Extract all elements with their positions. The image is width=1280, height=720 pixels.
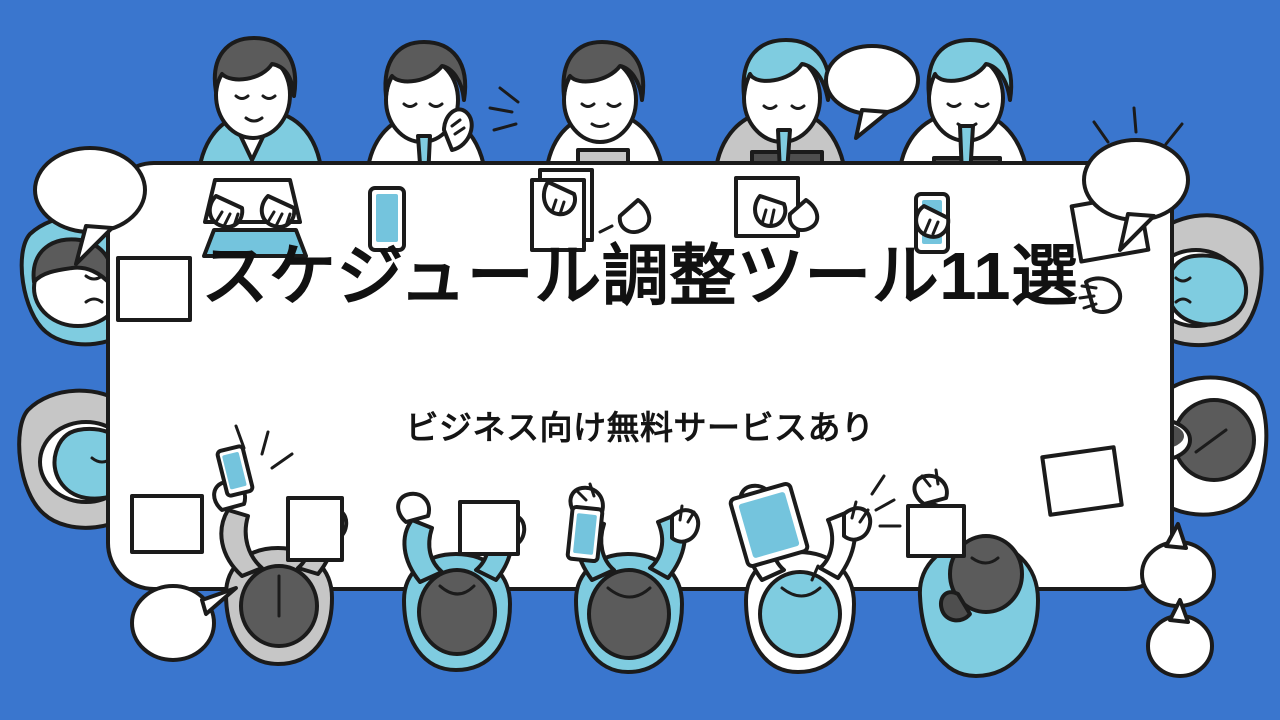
person-bottom-2 (398, 494, 524, 670)
speech-bubble-bottom-left (132, 586, 236, 660)
paper-left-1 (118, 258, 190, 320)
thought-bubble-right-2 (1148, 600, 1212, 676)
paper-bottom-3 (908, 506, 964, 556)
paper-bottom-2 (460, 502, 518, 554)
smartphone-1 (370, 188, 404, 250)
poster-canvas: .ol { stroke:#1b1b1b; stroke-width:4; st… (0, 0, 1280, 720)
paper-left-2 (132, 496, 202, 552)
paper-right-2 (1042, 447, 1121, 514)
speech-bubble-top-right (826, 46, 918, 138)
paper-bottom-1 (288, 498, 342, 560)
meeting-table-illustration: .ol { stroke:#1b1b1b; stroke-width:4; st… (0, 0, 1280, 720)
smartphone-4 (567, 507, 602, 562)
